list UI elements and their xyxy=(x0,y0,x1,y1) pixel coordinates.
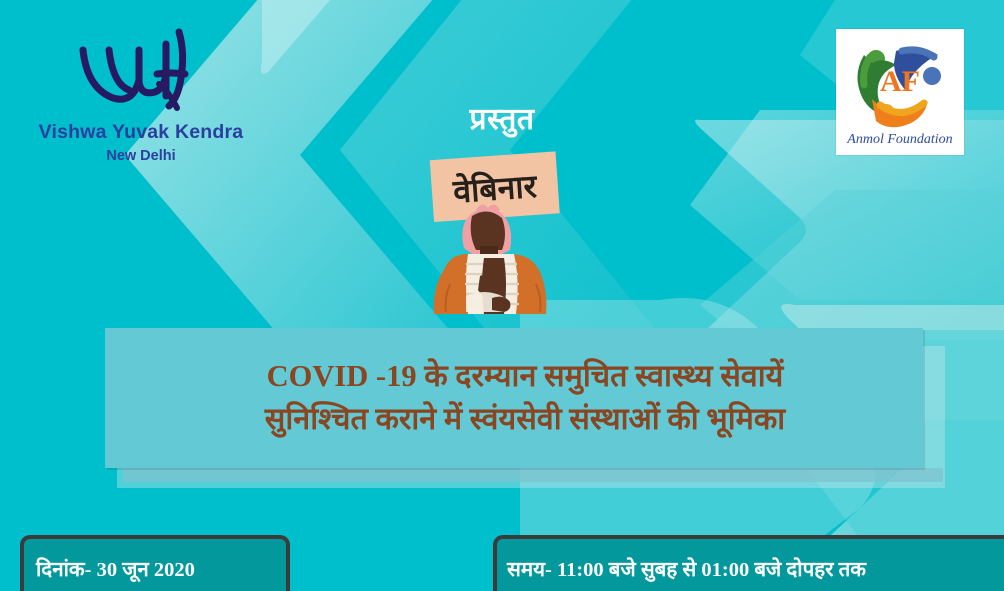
head-shape xyxy=(471,211,505,250)
time-badge: समय- 11:00 बजे सुबह से 01:00 बजे दोपहर त… xyxy=(493,535,1004,591)
organizer-city: New Delhi xyxy=(0,149,282,165)
title-card-shadow-lower xyxy=(123,468,943,482)
organizer-branding: Vishwa Yuvak Kendra New Delhi xyxy=(0,22,282,165)
placard-text: वेबिनार xyxy=(451,167,540,210)
af-monogram: AF xyxy=(880,65,920,98)
protester-illustration: वेबिनार xyxy=(406,150,586,322)
date-badge: दिनांक- 30 जून 2020 xyxy=(20,535,290,591)
protester-with-placard-icon: वेबिनार xyxy=(406,150,586,322)
title-line-1: COVID -19 के दरम्यान समुचित स्वास्थ्य से… xyxy=(267,355,784,398)
title-text: COVID -19 के दरम्यान समुचित स्वास्थ्य से… xyxy=(105,328,945,468)
date-label: दिनांक- 30 जून 2020 xyxy=(36,555,195,583)
title-card: COVID -19 के दरम्यान समुचित स्वास्थ्य से… xyxy=(105,328,945,488)
webinar-poster: Vishwa Yuvak Kendra New Delhi xyxy=(0,0,1004,591)
presents-label: प्रस्तुत xyxy=(0,97,1004,138)
time-label: समय- 11:00 बजे सुबह से 01:00 बजे दोपहर त… xyxy=(507,555,866,583)
title-line-2: सुनिश्चित कराने में स्वंयसेवी संस्थाओं क… xyxy=(265,398,785,441)
